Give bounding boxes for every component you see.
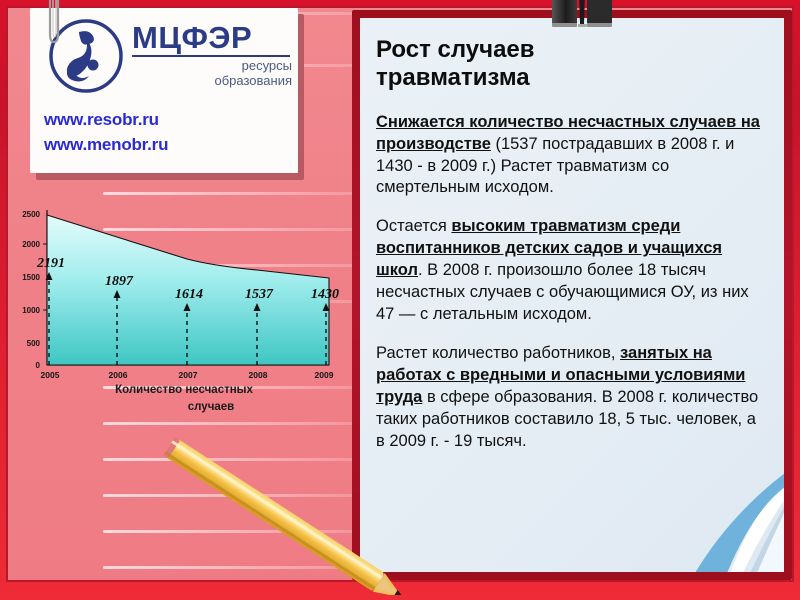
value-label-2008: 1537 bbox=[245, 287, 274, 302]
paragraph-2-rest: . В 2008 г. произошло более 18 тысяч нес… bbox=[376, 261, 749, 323]
value-label-2005: 2191 bbox=[36, 256, 65, 271]
url-resobr[interactable]: www.resobr.ru bbox=[44, 108, 168, 133]
xtick-2008: 2008 bbox=[249, 370, 268, 380]
url-menobr[interactable]: www.menobr.ru bbox=[44, 133, 168, 158]
ytick-2500: 2500 bbox=[22, 210, 40, 219]
paragraph-2: Остается высоким травматизм среди воспит… bbox=[376, 216, 764, 326]
binder-clip-icon bbox=[552, 0, 614, 32]
chart-caption: Количество несчастных случаев bbox=[34, 382, 334, 417]
ytick-0: 0 bbox=[36, 361, 41, 370]
logo-wordmark: МЦФЭР ресурсы образования bbox=[132, 22, 292, 88]
value-label-2009: 1430 bbox=[311, 287, 339, 302]
paragraph-3-pre: Растет количество работников, bbox=[376, 344, 620, 362]
accidents-area-chart: 2500 2000 1500 1000 500 0 bbox=[4, 196, 344, 426]
paragraph-1: Снижается количество несчастных случаев … bbox=[376, 112, 764, 200]
value-label-2006: 1897 bbox=[105, 274, 134, 289]
page-curl-icon bbox=[635, 453, 784, 572]
page-title: Рост случаев травматизма bbox=[376, 36, 606, 92]
xtick-2007: 2007 bbox=[179, 370, 198, 380]
xtick-2006: 2006 bbox=[109, 370, 128, 380]
slide-canvas: МЦФЭР ресурсы образования www.resobr.ru … bbox=[0, 0, 800, 600]
logo-subtitle-line1: ресурсы bbox=[132, 59, 292, 74]
chart-caption-line1: Количество несчастных bbox=[115, 384, 253, 396]
xtick-2009: 2009 bbox=[315, 370, 334, 380]
ytick-1000: 1000 bbox=[22, 306, 40, 315]
ytick-500: 500 bbox=[27, 339, 41, 348]
branding-card: МЦФЭР ресурсы образования www.resobr.ru … bbox=[30, 8, 298, 173]
text-panel: Рост случаев травматизма Снижается колич… bbox=[360, 18, 784, 572]
ytick-2000: 2000 bbox=[22, 240, 40, 249]
value-label-2007: 1614 bbox=[175, 287, 203, 302]
logo-brand: МЦФЭР bbox=[132, 22, 292, 53]
paperclip-icon bbox=[46, 0, 62, 50]
paragraph-2-pre: Остается bbox=[376, 217, 451, 235]
url-list: www.resobr.ru www.menobr.ru bbox=[44, 108, 168, 157]
logo-subtitle-line2: образования bbox=[132, 74, 292, 89]
logo-subtitle: ресурсы образования bbox=[132, 59, 292, 88]
ytick-1500: 1500 bbox=[22, 273, 40, 282]
logo-lockup: МЦФЭР ресурсы образования bbox=[40, 16, 290, 100]
chart-caption-line2: случаев bbox=[34, 399, 334, 416]
text-panel-content: Рост случаев травматизма Снижается колич… bbox=[376, 36, 764, 470]
paragraph-3: Растет количество работников, занятых на… bbox=[376, 343, 764, 453]
xtick-2005: 2005 bbox=[41, 370, 60, 380]
paragraph-3-rest: в сфере образования. В 2008 г. количеств… bbox=[376, 388, 758, 450]
chart-svg: 2500 2000 1500 1000 500 0 bbox=[4, 196, 344, 381]
logo-divider bbox=[132, 55, 290, 57]
